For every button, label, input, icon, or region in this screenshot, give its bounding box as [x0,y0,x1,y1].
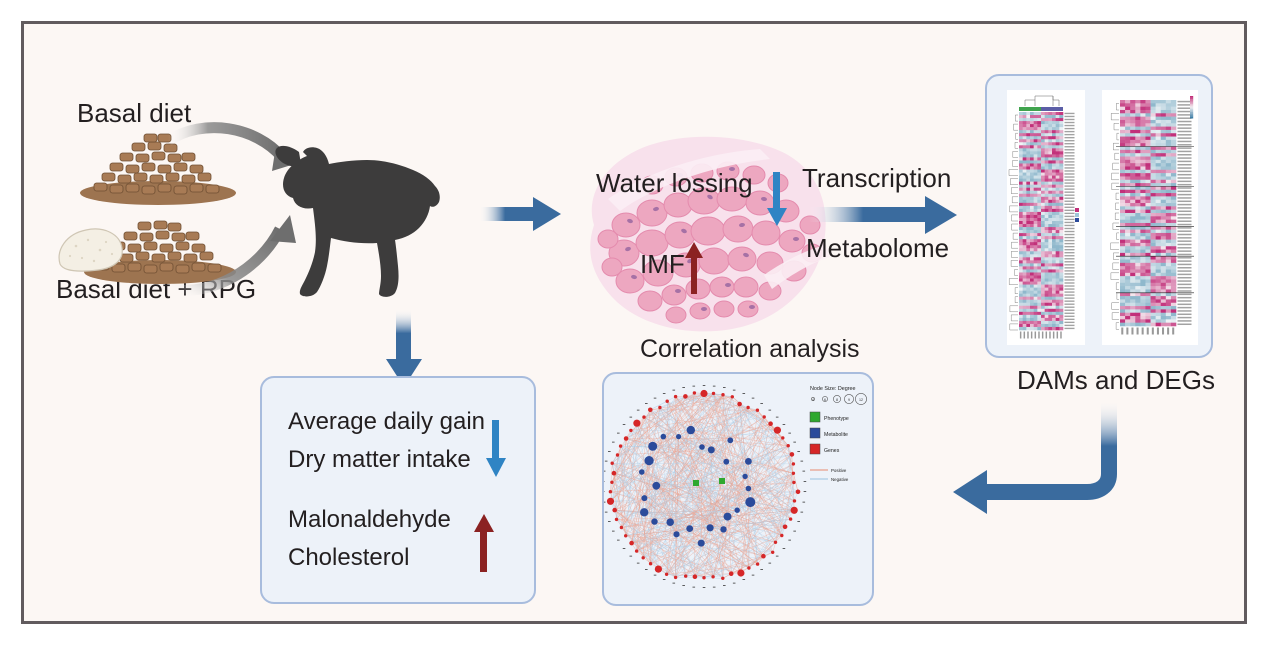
imf-up-arrow [684,242,704,294]
correlation-network-panel: ▬▬▬▬▬▬▬▬▬▬▬▬▬▬▬▬▬▬▬▬▬▬▬▬▬▬▬▬▬▬▬▬▬▬▬▬▬▬▬▬… [602,372,874,606]
svg-text:▬: ▬ [783,423,786,426]
svg-text:▬: ▬ [713,586,716,589]
result-item-malonaldehyde: Malonaldehyde [288,506,451,534]
svg-text:▬: ▬ [605,460,608,463]
svg-text:▬: ▬ [682,386,685,389]
svg-text:▬: ▬ [604,470,606,473]
svg-text:▬: ▬ [769,562,772,565]
correlation-analysis-label: Correlation analysis [640,335,860,364]
result-item-cholesterol: Cholesterol [288,544,409,572]
svg-text:▬: ▬ [630,415,633,418]
svg-text:▬: ▬ [604,480,605,483]
svg-text:12: 12 [859,398,863,402]
svg-text:▬: ▬ [630,555,633,558]
svg-text:▬: ▬ [793,441,796,444]
svg-text:▬: ▬ [604,500,606,503]
svg-text:▬: ▬ [760,568,763,571]
results-down-arrow [486,420,506,478]
water-lossing-label: Water lossing [596,168,753,199]
svg-text:▬: ▬ [693,586,696,589]
svg-text:▬: ▬ [604,490,605,493]
sheep-silhouette [269,134,484,314]
svg-text:▬: ▬ [645,568,648,571]
dams-degs-caption: DAMs and DEGs [1017,365,1215,396]
svg-text:8: 8 [836,398,838,402]
svg-text:▬: ▬ [752,573,755,576]
svg-text:▬: ▬ [743,392,746,395]
svg-text:▬: ▬ [752,397,755,400]
water-lossing-down-arrow [766,172,788,227]
svg-text:▬: ▬ [637,562,640,565]
rpg-supplement-mound [59,229,122,271]
svg-text:▬: ▬ [743,578,746,581]
svg-text:▬: ▬ [793,530,796,533]
svg-text:▬: ▬ [804,480,807,483]
svg-text:▬: ▬ [703,384,706,387]
correlation-network-graph: ▬▬▬▬▬▬▬▬▬▬▬▬▬▬▬▬▬▬▬▬▬▬▬▬▬▬▬▬▬▬▬▬▬▬▬▬▬▬▬▬… [604,374,872,604]
svg-text:▬: ▬ [663,578,666,581]
svg-text:▬: ▬ [654,397,657,400]
svg-text:▬: ▬ [703,586,706,589]
svg-text:▬: ▬ [797,450,800,453]
svg-text:▬: ▬ [788,432,791,435]
svg-text:▬: ▬ [637,408,640,411]
svg-text:▬: ▬ [803,470,806,473]
svg-text:▬: ▬ [605,510,608,513]
svg-text:▬: ▬ [693,385,696,388]
svg-text:▬: ▬ [612,530,615,533]
heatmap-genes [1102,90,1198,345]
svg-text:4: 4 [812,398,814,402]
svg-text:▬: ▬ [617,538,620,541]
svg-text:▬: ▬ [673,581,676,584]
svg-text:▬: ▬ [623,423,626,426]
svg-text:▬: ▬ [797,520,800,523]
arrow-muscle-to-omics [809,192,959,238]
svg-text:▬: ▬ [623,547,626,550]
transcription-label: Transcription [802,163,951,194]
svg-text:▬: ▬ [617,432,620,435]
svg-text:Genes: Genes [824,448,840,454]
arrow-omics-to-correlation [909,392,1139,522]
svg-text:▬: ▬ [645,402,648,405]
result-item-dry-matter-intake: Dry matter intake [288,446,471,474]
svg-text:▬: ▬ [783,547,786,550]
svg-text:▬: ▬ [801,460,804,463]
figure-frame: Basal diet Basal diet + RPG [21,21,1247,624]
phenotype-results-panel: Average daily gain Dry matter intake Mal… [260,376,536,604]
svg-text:6: 6 [824,398,826,402]
graphical-abstract: Basal diet Basal diet + RPG [0,0,1269,647]
svg-text:▬: ▬ [612,441,615,444]
svg-text:▬: ▬ [733,389,736,392]
svg-text:▬: ▬ [733,581,736,584]
svg-text:▬: ▬ [682,584,685,587]
svg-text:▬: ▬ [760,402,763,405]
heatmaps-panel [985,74,1213,358]
svg-text:▬: ▬ [608,450,611,453]
heatmap-metabolites [1007,90,1085,345]
svg-text:▬: ▬ [801,510,804,513]
svg-text:▬: ▬ [723,584,726,587]
svg-text:▬: ▬ [776,415,779,418]
imf-label: IMF [640,249,685,280]
svg-text:▬: ▬ [663,392,666,395]
svg-text:▬: ▬ [713,385,716,388]
svg-text:Phenotype: Phenotype [824,416,849,422]
svg-text:▬: ▬ [723,386,726,389]
svg-text:Negative: Negative [831,477,849,482]
svg-text:▬: ▬ [654,573,657,576]
svg-text:▬: ▬ [776,555,779,558]
svg-text:▬: ▬ [673,389,676,392]
svg-text:Node Size: Degree: Node Size: Degree [810,386,856,392]
svg-text:9: 9 [848,398,850,402]
svg-text:▬: ▬ [804,490,807,493]
results-up-arrow [474,514,494,572]
svg-text:▬: ▬ [788,538,791,541]
svg-text:Positive: Positive [831,468,847,473]
arrow-animal-to-muscle [479,189,564,239]
svg-text:▬: ▬ [608,520,611,523]
result-item-average-daily-gain: Average daily gain [288,408,485,436]
svg-text:Metabolite: Metabolite [824,432,848,438]
svg-text:▬: ▬ [803,500,806,503]
svg-text:▬: ▬ [769,408,772,411]
